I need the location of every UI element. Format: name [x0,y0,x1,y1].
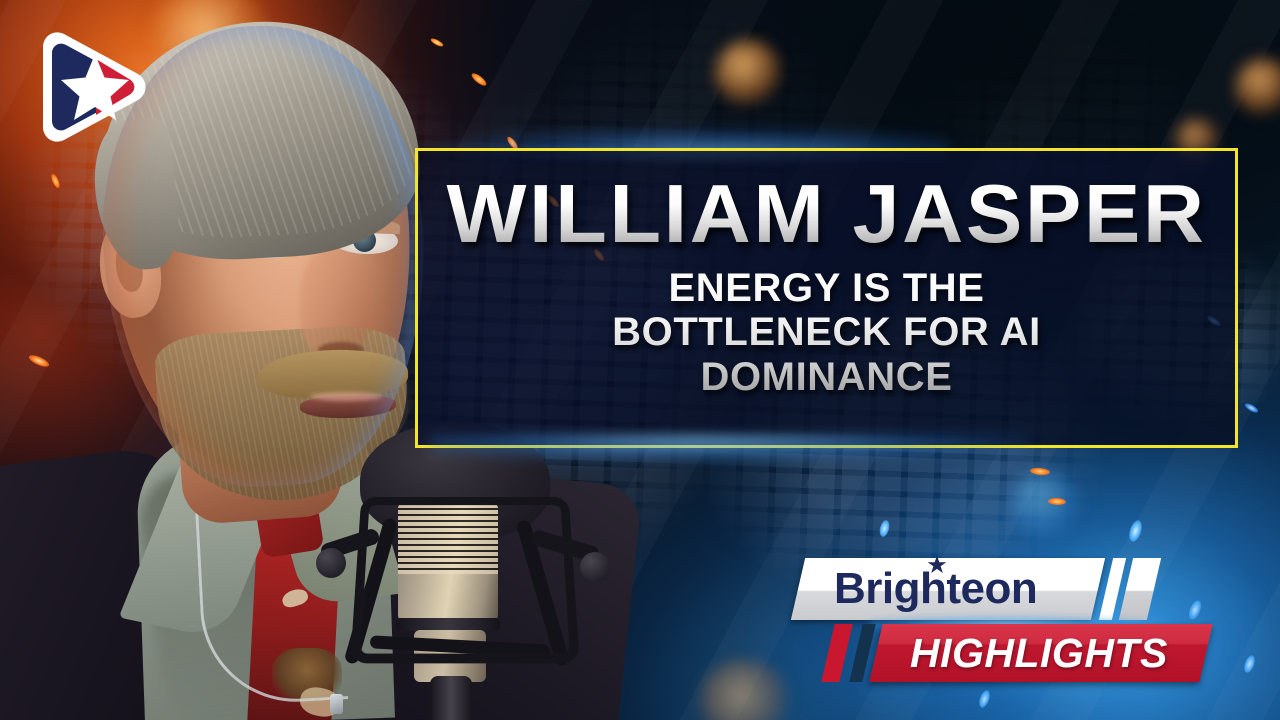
brighteon-highlights-badge[interactable]: Brighteon HIGHLIGHTS [790,552,1220,687]
subtitle-line-1: ENERGY IS THE [612,266,1041,311]
highlights-label: HIGHLIGHTS [910,628,1168,678]
brighteon-logo-svg [34,28,152,146]
studio-microphone-icon [330,440,630,720]
bokeh-orb [715,40,781,106]
star-icon-svg [927,555,947,575]
mic-knob-right [580,552,610,582]
video-thumbnail: WILLIAM JASPER ENERGY IS THE BOTTLENECK … [0,0,1280,720]
mic-stem [430,676,472,720]
subtitle: ENERGY IS THE BOTTLENECK FOR AI DOMINANC… [612,266,1041,400]
subtitle-line-3: DOMINANCE [612,355,1041,400]
mic-shockmount-frame [350,497,580,663]
subtitle-line-2: BOTTLENECK FOR AI [612,310,1041,355]
star-icon [927,555,947,575]
highlights-banner-slash-red [821,624,852,682]
title-card-content: WILLIAM JASPER ENERGY IS THE BOTTLENECK … [415,148,1238,448]
brighteon-banner-slash [1119,558,1161,620]
bokeh-orb [1010,470,1080,540]
mic-knob-left [316,548,346,578]
page-title: WILLIAM JASPER [446,174,1206,254]
brighteon-play-star-icon[interactable] [34,28,152,146]
